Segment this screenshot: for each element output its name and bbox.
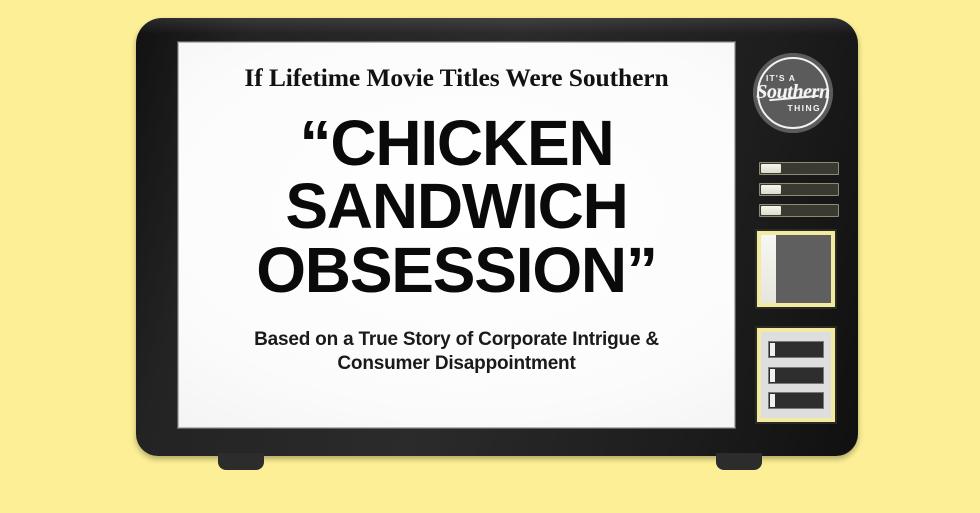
panel-button-3[interactable] — [768, 392, 824, 409]
panel-button-1[interactable] — [768, 341, 824, 358]
its-a-southern-thing-logo: IT'S A Southern THING — [753, 53, 833, 133]
screen-title: “CHICKEN SANDWICH OBSESSION” — [178, 112, 735, 302]
screen-title-line-1: “CHICKEN — [184, 112, 729, 175]
panel-button-3-indicator — [770, 394, 775, 407]
tv-foot-right — [716, 453, 762, 470]
poster-canvas: If Lifetime Movie Titles Were Southern “… — [0, 0, 980, 513]
slider-knob-1[interactable] — [761, 164, 781, 173]
screen-subtitle: Based on a True Story of Corporate Intri… — [178, 328, 735, 377]
logo-line-thing: THING — [788, 103, 821, 113]
logo-text-group: IT'S A Southern THING — [761, 61, 825, 125]
logo-line-southern: Southern — [756, 82, 830, 102]
screen-title-line-2: SANDWICH — [184, 175, 729, 238]
tv-screen: If Lifetime Movie Titles Were Southern “… — [178, 42, 735, 428]
screen-subtitle-line-1: Based on a True Story of Corporate Intri… — [212, 328, 701, 352]
speaker-panel-strip — [761, 235, 776, 303]
slider-control-bank — [759, 162, 839, 217]
tv-speaker-panel — [757, 231, 835, 307]
slider-control-2[interactable] — [759, 183, 839, 196]
panel-button-2-indicator — [770, 369, 775, 382]
panel-button-2[interactable] — [768, 367, 824, 384]
slider-control-3[interactable] — [759, 204, 839, 217]
screen-header-text: If Lifetime Movie Titles Were Southern — [178, 64, 735, 92]
screen-subtitle-line-2: Consumer Disappointment — [212, 352, 701, 376]
slider-knob-2[interactable] — [761, 185, 781, 194]
tv-foot-left — [218, 453, 264, 470]
screen-title-line-3: OBSESSION” — [184, 239, 729, 302]
tv-chassis: If Lifetime Movie Titles Were Southern “… — [136, 18, 858, 456]
slider-knob-3[interactable] — [761, 206, 781, 215]
tv-button-panel — [757, 328, 835, 422]
slider-control-1[interactable] — [759, 162, 839, 175]
panel-button-1-indicator — [770, 343, 775, 356]
